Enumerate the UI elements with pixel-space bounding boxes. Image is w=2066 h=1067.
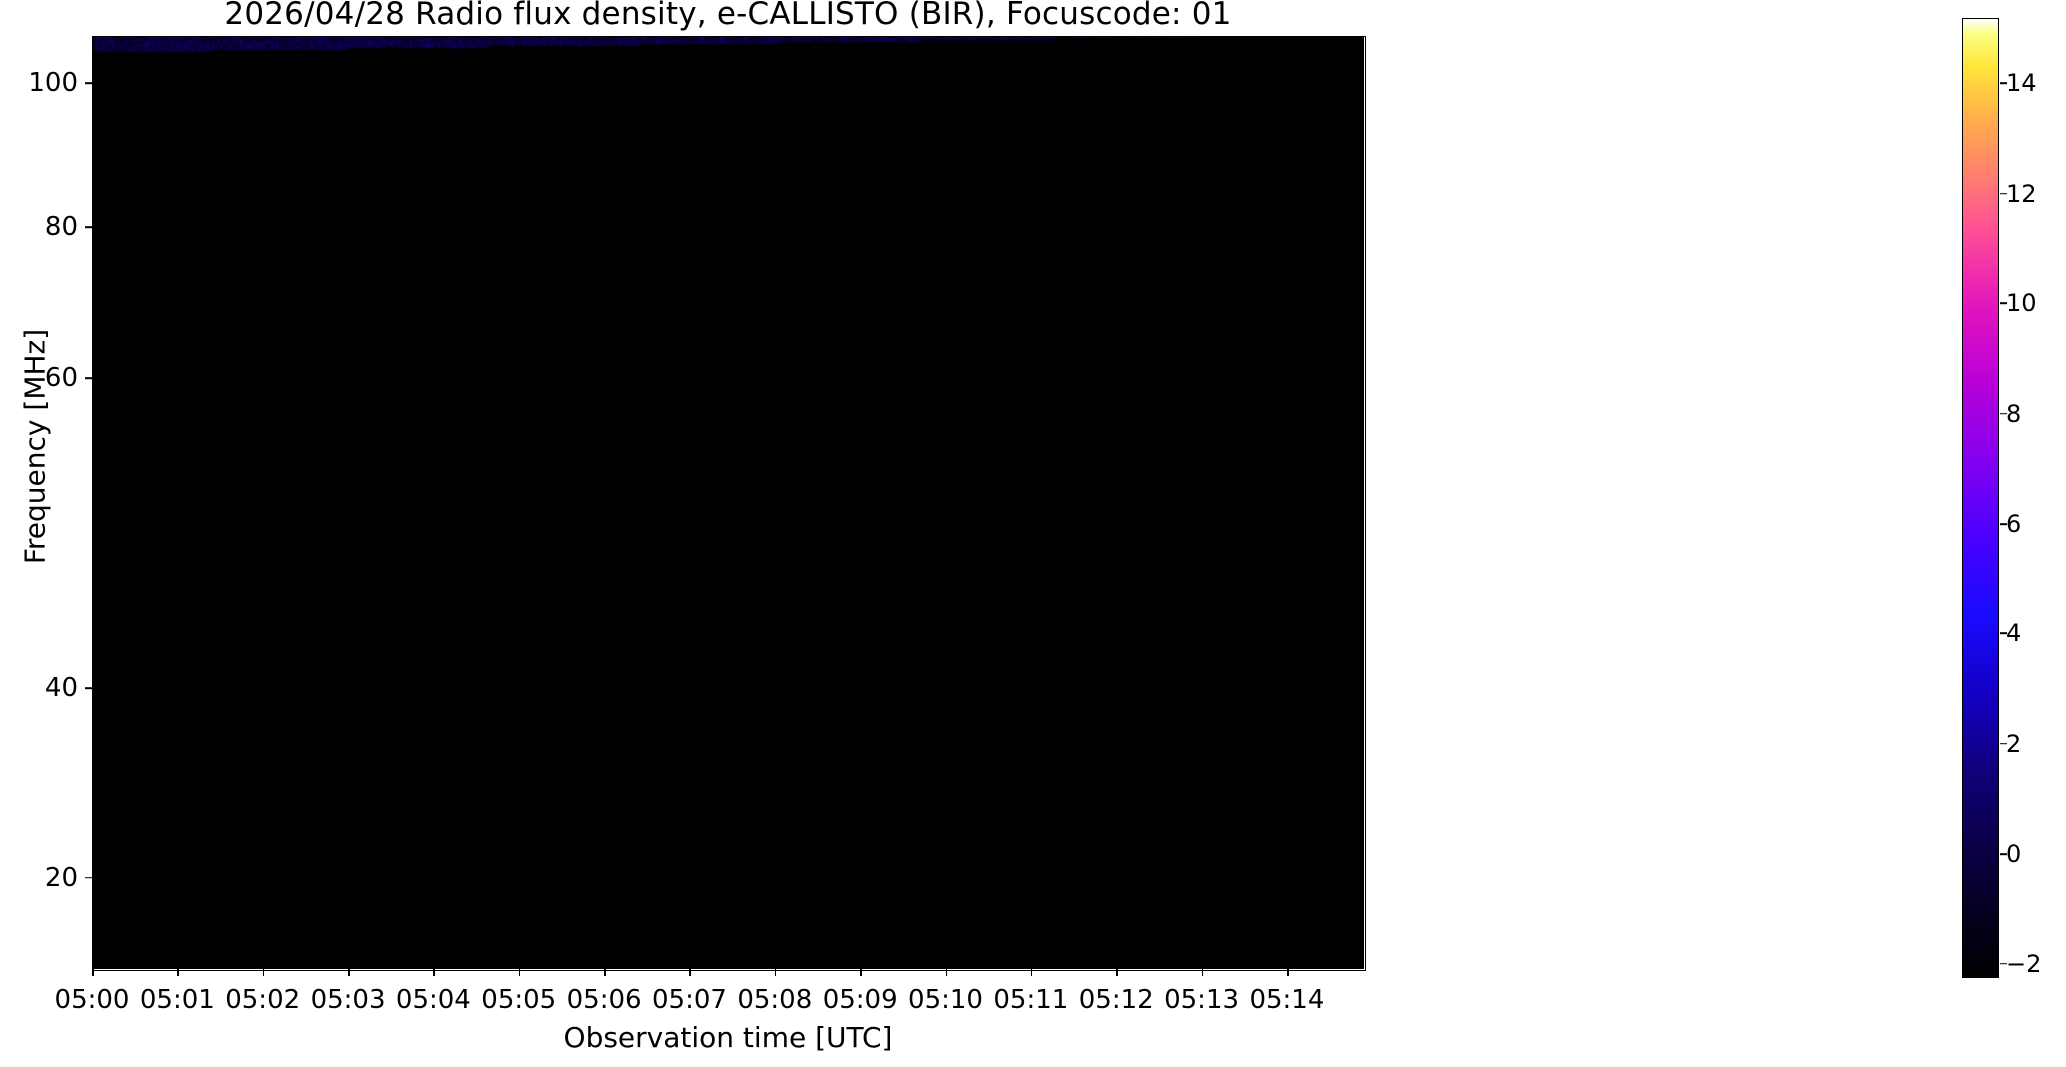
colorbar-tick-mark (2000, 963, 2007, 965)
y-tick-label: 100 (0, 68, 78, 98)
colorbar-tick-labels: 14121086420−2 (1962, 18, 2066, 978)
colorbar-tick-label: 10 (2006, 289, 2037, 317)
x-tick-mark (1116, 969, 1118, 976)
x-tick-mark (92, 969, 94, 976)
colorbar-tick-mark (2000, 413, 2007, 415)
spectrogram-plot[interactable] (92, 36, 1364, 969)
y-tick-mark (85, 226, 92, 228)
colorbar-tick-label: 12 (2006, 180, 2037, 208)
y-tick-mark (85, 687, 92, 689)
x-tick-label: 05:14 (1217, 985, 1357, 1015)
x-tick-mark (1031, 969, 1033, 976)
x-tick-mark (946, 969, 948, 976)
colorbar-tick-mark (2000, 633, 2007, 635)
x-tick-mark (604, 969, 606, 976)
x-tick-mark (348, 969, 350, 976)
colorbar-tick-label: 2 (2006, 730, 2021, 758)
x-tick-mark (177, 969, 179, 976)
colorbar-tick-mark (2000, 82, 2007, 84)
x-tick-mark (519, 969, 521, 976)
y-tick-mark (85, 378, 92, 380)
colorbar-tick-mark (2000, 743, 2007, 745)
colorbar-tick-label: 4 (2006, 619, 2021, 647)
colorbar-tick-label: 6 (2006, 510, 2021, 538)
figure: 2026/04/28 Radio flux density, e-CALLIST… (0, 0, 2066, 1067)
y-tick-mark (85, 82, 92, 84)
y-tick-label: 20 (0, 863, 78, 893)
x-tick-mark (689, 969, 691, 976)
x-tick-mark (860, 969, 862, 976)
spectrogram-image (92, 36, 1364, 969)
x-tick-mark (1202, 969, 1204, 976)
colorbar-tick-mark (2000, 302, 2007, 304)
x-axis-label: Observation time [UTC] (92, 1021, 1364, 1054)
x-tick-mark (1287, 969, 1289, 976)
colorbar-tick-label: 14 (2006, 69, 2037, 97)
y-axis: 10080604020 Frequency [MHz] (0, 0, 92, 1067)
page-title: 2026/04/28 Radio flux density, e-CALLIST… (0, 0, 1456, 32)
x-tick-mark (775, 969, 777, 976)
colorbar-tick-mark (2000, 523, 2007, 525)
colorbar-tick-label: 0 (2006, 840, 2021, 868)
colorbar-tick-mark (2000, 853, 2007, 855)
colorbar-tick-label: 8 (2006, 400, 2021, 428)
colorbar-tick-label: −2 (2006, 950, 2041, 978)
x-axis: 05:0005:0105:0205:0305:0405:0505:0605:07… (0, 969, 2066, 1067)
x-tick-mark (433, 969, 435, 976)
x-tick-mark (263, 969, 265, 976)
colorbar-tick-mark (2000, 193, 2007, 195)
y-axis-label: Frequency [MHz] (19, 197, 52, 697)
y-tick-mark (85, 877, 92, 879)
